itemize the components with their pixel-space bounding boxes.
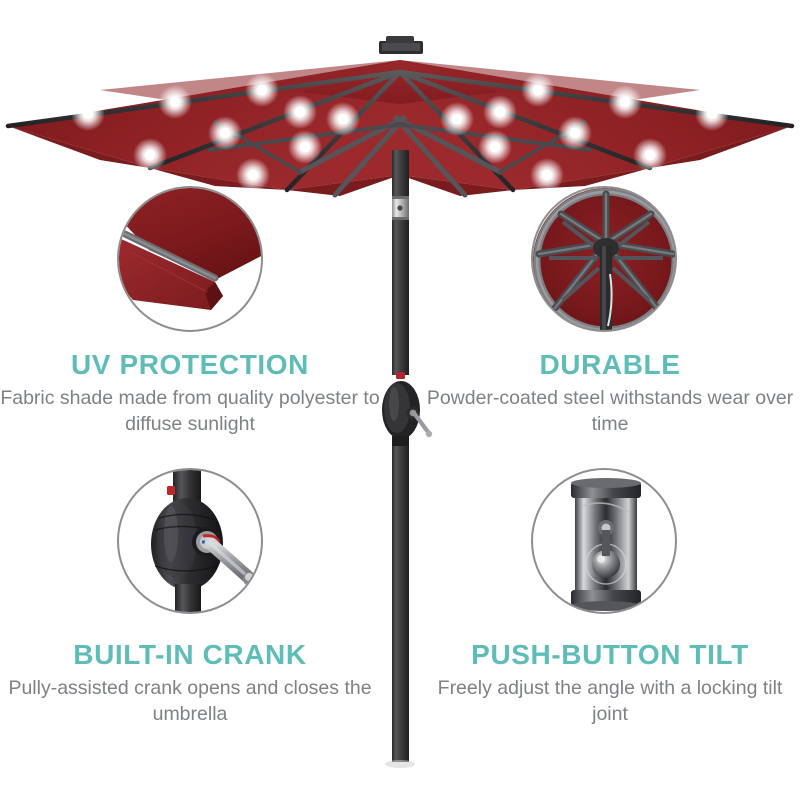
umbrella-canopy — [8, 36, 792, 196]
feature-description-durable: Powder-coated steel withstands wear over… — [420, 386, 800, 437]
feature-title-built-in-crank: BUILT-IN CRANK — [0, 640, 380, 669]
feature-text-uv-protection: UV PROTECTION Fabric shade made from qua… — [0, 350, 380, 437]
feature-title-push-button-tilt: PUSH-BUTTON TILT — [420, 640, 800, 669]
callout-built-in-crank — [117, 468, 263, 614]
solar-panel-finial — [379, 36, 423, 54]
crank-handle-closeup-icon — [119, 470, 263, 614]
feature-text-built-in-crank: BUILT-IN CRANK Pully-assisted crank open… — [0, 640, 380, 727]
tilt-joint-closeup-icon — [533, 470, 677, 614]
feature-title-durable: DURABLE — [420, 350, 800, 379]
callout-durable — [531, 186, 677, 332]
canopy-fabric-closeup-icon — [119, 188, 263, 332]
product-infographic: UV PROTECTION Fabric shade made from qua… — [0, 0, 800, 800]
feature-title-uv-protection: UV PROTECTION — [0, 350, 380, 379]
feature-description-built-in-crank: Pully-assisted crank opens and closes th… — [0, 676, 380, 727]
callout-uv-protection — [117, 186, 263, 332]
feature-description-push-button-tilt: Freely adjust the angle with a locking t… — [420, 676, 800, 727]
callout-push-button-tilt — [531, 468, 677, 614]
canopy-ribs-and-leds — [8, 72, 792, 195]
feature-text-push-button-tilt: PUSH-BUTTON TILT Freely adjust the angle… — [420, 640, 800, 727]
feature-description-uv-protection: Fabric shade made from quality polyester… — [0, 386, 380, 437]
feature-text-durable: DURABLE Powder-coated steel withstands w… — [420, 350, 800, 437]
umbrella-underside-hub-icon — [533, 188, 677, 332]
